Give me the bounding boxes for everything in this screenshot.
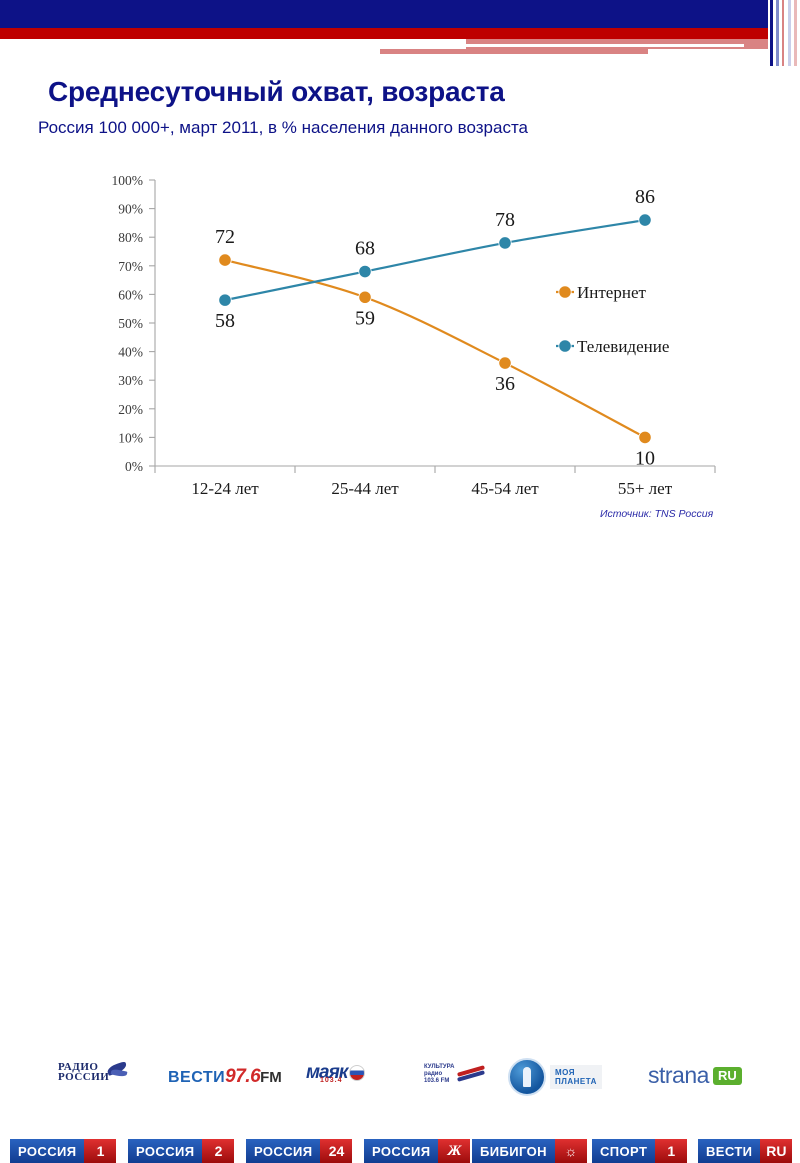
logo-vesti-97-6-fm: ВЕСТИ 97.6 FM	[168, 1066, 282, 1088]
legend-label-1: Интернет	[577, 283, 646, 302]
logo-sport-1: СПОРТ1	[592, 1139, 687, 1163]
logo-mayak-frequency: 103.4	[320, 1077, 343, 1084]
logo-planeta-line2: ПЛАНЕТА	[555, 1077, 597, 1086]
logo-vesti-ru-mark: RU	[760, 1139, 792, 1163]
data-point-marker	[499, 237, 511, 249]
data-point-marker	[219, 294, 231, 306]
logo-rossiya-24-label: РОССИЯ	[246, 1139, 320, 1163]
data-point-label: 72	[215, 226, 235, 248]
header-edge-stripe-1	[770, 0, 773, 66]
header-decoration-band	[0, 0, 800, 66]
y-axis-tick-label: 80%	[118, 230, 143, 245]
data-point-label: 59	[355, 307, 375, 329]
data-point-marker	[219, 254, 231, 266]
logo-vesti-ru-label: ВЕСТИ	[698, 1139, 760, 1163]
data-point-label: 86	[635, 186, 655, 208]
logo-planeta-line1: МОЯ	[555, 1068, 597, 1077]
logo-rossiya-k: РОССИЯЖ	[364, 1139, 470, 1163]
logo-sport-1-label: СПОРТ	[592, 1139, 655, 1163]
logo-rossiya-24: РОССИЯ24	[246, 1139, 352, 1163]
logo-strana-text: strana	[648, 1062, 709, 1089]
data-point-marker	[359, 265, 371, 277]
y-axis-tick-label: 40%	[118, 345, 143, 360]
logo-kultura-line2: радио	[424, 1071, 454, 1078]
header-navy-bar	[0, 0, 768, 28]
y-axis-tick-label: 30%	[118, 373, 143, 388]
logo-rossiya-1: РОССИЯ1	[10, 1139, 116, 1163]
chevron-swoosh-icon	[457, 1067, 487, 1083]
x-axis-tick-label: 25-44 лет	[331, 479, 399, 498]
logo-bibigon-mark: ☼	[555, 1139, 587, 1163]
person-circle-icon	[508, 1058, 546, 1096]
data-point-label: 78	[495, 209, 515, 231]
y-axis-tick-label: 90%	[118, 202, 143, 217]
logo-vesti-fm: FM	[260, 1069, 282, 1086]
logo-rossiya-k-mark: Ж	[438, 1139, 470, 1163]
slide-title: Среднесуточный охват, возраста	[48, 76, 768, 108]
logo-rossiya-2-label: РОССИЯ	[128, 1139, 202, 1163]
x-axis-tick-label: 55+ лет	[618, 479, 673, 498]
logo-strana-badge: RU	[713, 1067, 742, 1085]
data-point-marker	[359, 291, 371, 303]
x-axis-tick-label: 45-54 лет	[471, 479, 539, 498]
russian-flag-ball-icon	[349, 1065, 365, 1081]
data-point-label: 58	[215, 310, 235, 332]
data-point-marker	[639, 214, 651, 226]
partner-logos-bottom-row: РОССИЯ1РОССИЯ2РОССИЯ24РОССИЯЖБИБИГОН☼СПО…	[0, 568, 800, 598]
logo-vesti-word: ВЕСТИ	[168, 1069, 225, 1087]
logo-rossiya-1-mark: 1	[84, 1139, 116, 1163]
header-edge-stripe-5	[794, 0, 797, 66]
header-edge-stripe-3	[782, 0, 784, 66]
partner-logos-top-row: РАДИО РОССИИ ВЕСТИ 97.6 FM маяк 103.4 КУ…	[0, 528, 800, 568]
data-point-marker	[499, 357, 511, 369]
y-axis-tick-label: 20%	[118, 402, 143, 417]
logo-bibigon: БИБИГОН☼	[472, 1139, 587, 1163]
logo-vesti-ru: ВЕСТИRU	[698, 1139, 792, 1163]
y-axis-tick-label: 0%	[125, 459, 143, 474]
data-point-label: 68	[355, 238, 375, 260]
logo-kultura-line1: КУЛЬТУРА	[424, 1064, 454, 1071]
data-point-label: 36	[495, 373, 515, 395]
x-axis-tick-label: 12-24 лет	[191, 479, 259, 498]
y-axis-tick-label: 60%	[118, 287, 143, 302]
bird-icon	[105, 1062, 131, 1082]
logo-rossiya-k-label: РОССИЯ	[364, 1139, 438, 1163]
logo-radio-rossii: РАДИО РОССИИ	[58, 1062, 131, 1082]
logo-rossiya-2: РОССИЯ2	[128, 1139, 234, 1163]
logo-kultura-radio: КУЛЬТУРА радио 103.6 FM	[424, 1064, 487, 1085]
y-axis-tick-label: 50%	[118, 316, 143, 331]
header-white-stripe	[466, 44, 744, 47]
logo-mayak: маяк 103.4	[306, 1062, 365, 1084]
y-axis-tick-label: 100%	[112, 173, 144, 188]
chart-canvas: 0%10%20%30%40%50%60%70%80%90%100%12-24 л…	[60, 165, 740, 510]
legend-marker-2	[559, 340, 571, 352]
logo-moya-planeta: МОЯ ПЛАНЕТА	[508, 1058, 602, 1096]
y-axis-tick-label: 70%	[118, 259, 143, 274]
logo-strana-ru: strana RU	[648, 1062, 742, 1089]
logo-radio-rossii-line1: РАДИО	[58, 1062, 109, 1072]
logo-bibigon-label: БИБИГОН	[472, 1139, 555, 1163]
header-edge-stripe-4	[788, 0, 791, 66]
slide-subtitle: Россия 100 000+, март 2011, в % населени…	[38, 118, 778, 138]
logo-rossiya-1-label: РОССИЯ	[10, 1139, 84, 1163]
logo-kultura-line3: 103.6 FM	[424, 1078, 454, 1085]
logo-radio-rossii-line2: РОССИИ	[58, 1072, 109, 1082]
logo-vesti-frequency: 97.6	[225, 1066, 260, 1088]
legend-marker-1	[559, 286, 571, 298]
line-chart: 0%10%20%30%40%50%60%70%80%90%100%12-24 л…	[60, 165, 740, 510]
data-point-marker	[639, 431, 651, 443]
data-point-label: 10	[635, 447, 655, 469]
y-axis-tick-label: 10%	[118, 430, 143, 445]
logo-sport-1-mark: 1	[655, 1139, 687, 1163]
header-edge-stripe-2	[776, 0, 779, 66]
header-red-bar	[0, 28, 768, 39]
legend-label-2: Телевидение	[577, 337, 669, 356]
logo-rossiya-24-mark: 24	[320, 1139, 352, 1163]
source-note: Источник: TNS Россия	[600, 508, 713, 520]
header-pink-lower-bar	[380, 49, 648, 54]
logo-rossiya-2-mark: 2	[202, 1139, 234, 1163]
